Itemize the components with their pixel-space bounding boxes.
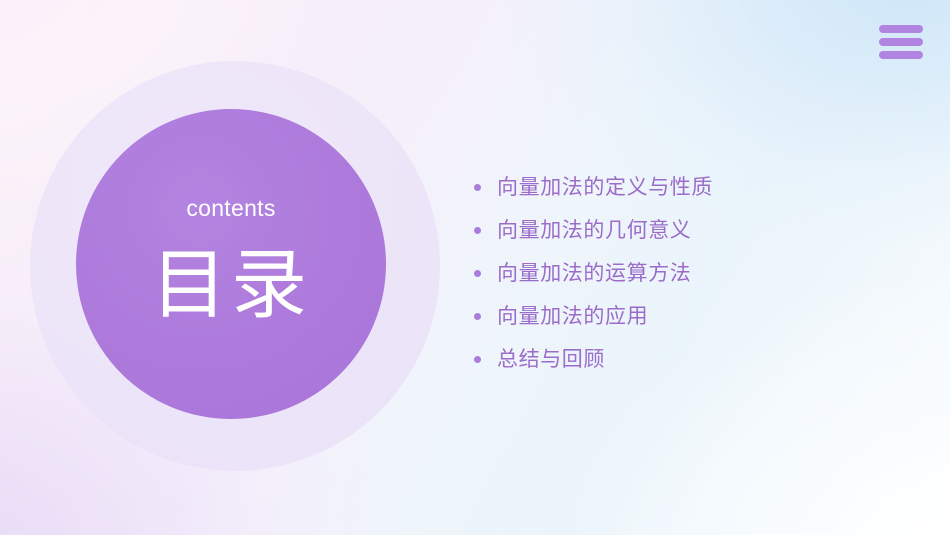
hamburger-menu-icon-bar-bottom [879,51,923,59]
bullet-dot-icon [474,227,481,234]
bullet-dot-icon [474,356,481,363]
agenda-list: 向量加法的定义与性质 向量加法的几何意义 向量加法的运算方法 向量加法的应用 总… [468,166,908,381]
agenda-item-label: 向量加法的运算方法 [497,263,691,284]
contents-badge-inner-circle: contents 目录 [76,109,386,419]
presentation-slide: contents 目录 向量加法的定义与性质 向量加法的几何意义 向量加法的运算… [0,0,950,535]
agenda-item-label: 向量加法的应用 [497,306,648,327]
agenda-item-label: 总结与回顾 [497,349,605,370]
hamburger-menu-icon-bar-middle [879,38,923,46]
list-item[interactable]: 向量加法的几何意义 [468,209,908,252]
list-item[interactable]: 向量加法的定义与性质 [468,166,908,209]
bullet-dot-icon [474,184,481,191]
hamburger-menu-button[interactable] [879,22,923,62]
hamburger-menu-icon-bar-top [879,25,923,33]
list-item[interactable]: 向量加法的应用 [468,295,908,338]
agenda-item-label: 向量加法的几何意义 [497,220,691,241]
contents-badge-subtitle: contents [186,197,275,220]
list-item[interactable]: 向量加法的运算方法 [468,252,908,295]
agenda-item-label: 向量加法的定义与性质 [497,177,713,198]
contents-badge: contents 目录 [30,61,440,471]
bullet-dot-icon [474,270,481,277]
contents-badge-title: 目录 [151,245,311,325]
bullet-dot-icon [474,313,481,320]
list-item[interactable]: 总结与回顾 [468,338,908,381]
